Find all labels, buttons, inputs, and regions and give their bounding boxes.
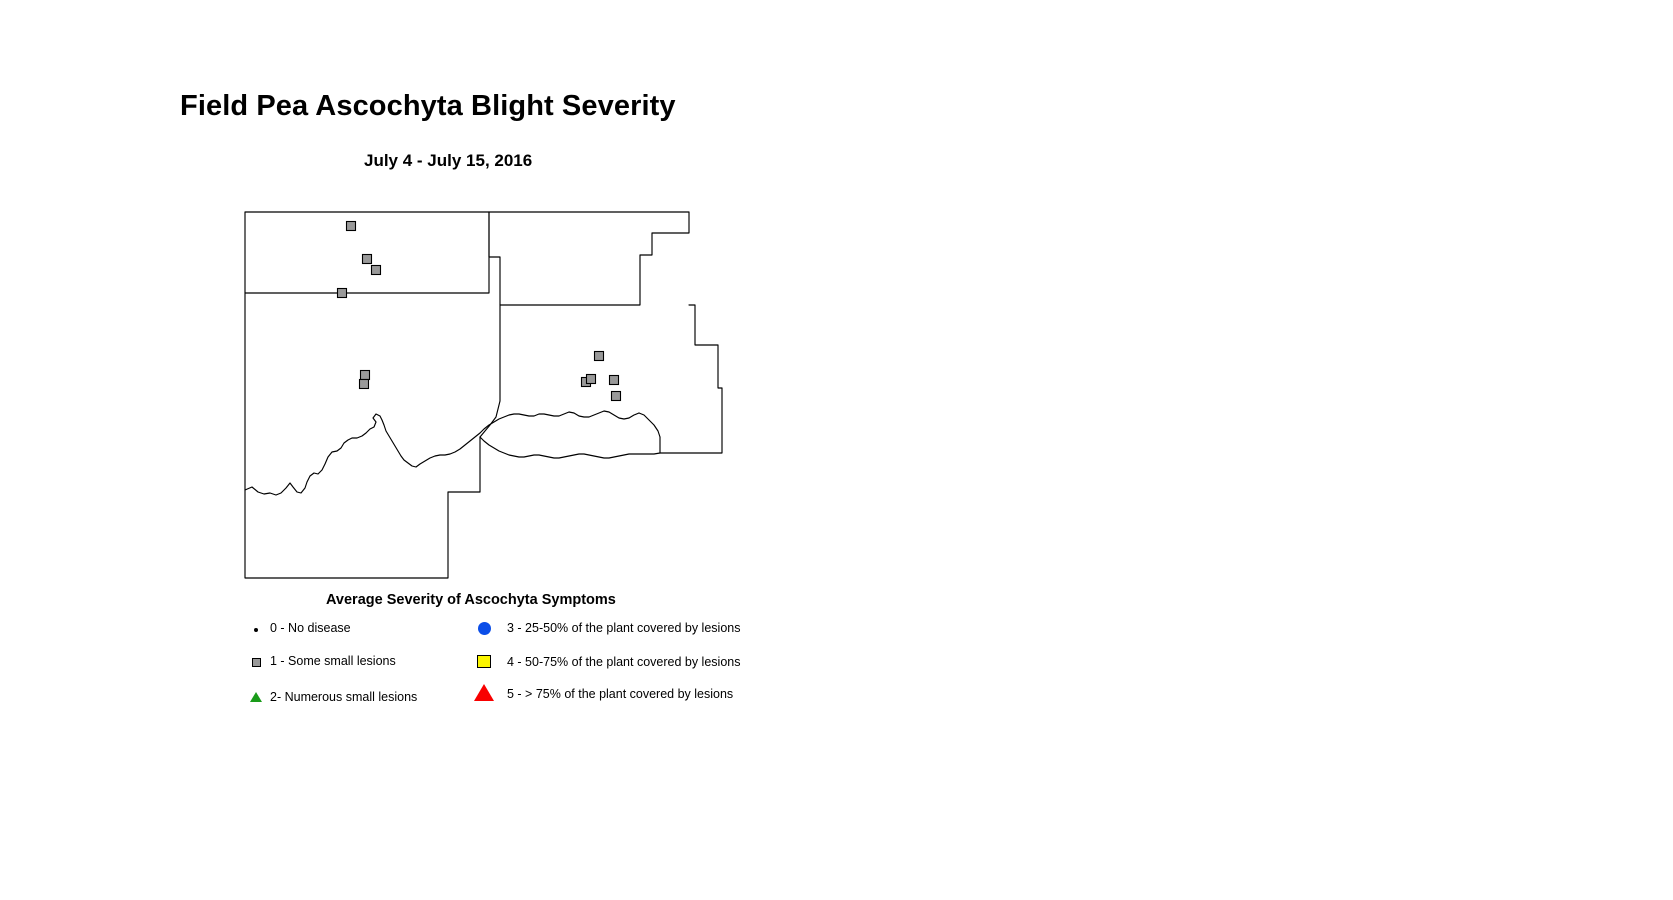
page-subtitle: July 4 - July 15, 2016 (364, 151, 532, 171)
legend-item-severity-0: 0 - No disease (245, 618, 460, 651)
legend-title: Average Severity of Ascochyta Symptoms (326, 592, 616, 608)
circle-blue-icon (472, 618, 496, 638)
page-title: Field Pea Ascochyta Blight Severity (180, 90, 676, 123)
legend-item-severity-4: 4 - 50-75% of the plant covered by lesio… (472, 651, 762, 683)
marker-site-10[interactable] (610, 376, 619, 385)
marker-site-9[interactable] (587, 375, 596, 384)
triangle-green-icon (245, 687, 267, 707)
square-yellow-icon (472, 651, 496, 671)
river-boundary-southeast (480, 437, 660, 458)
marker-site-5[interactable] (361, 371, 370, 380)
legend-item-label: 4 - 50-75% of the plant covered by lesio… (507, 652, 740, 672)
legend-column-left: 0 - No disease 1 - Some small lesions 2-… (245, 618, 460, 717)
boundary-nw-county (245, 212, 489, 293)
boundary-east-outer (660, 305, 722, 453)
map-markers (338, 222, 621, 401)
legend: 0 - No disease 1 - Some small lesions 2-… (240, 618, 760, 710)
marker-site-7[interactable] (595, 352, 604, 361)
boundary-ne-county (489, 212, 689, 305)
marker-site-11[interactable] (612, 392, 621, 401)
marker-site-6[interactable] (360, 380, 369, 389)
river-boundary-west (245, 411, 639, 495)
boundary-divider-lower (480, 401, 500, 437)
legend-column-right: 3 - 25-50% of the plant covered by lesio… (472, 618, 762, 716)
marker-site-1[interactable] (347, 222, 356, 231)
legend-item-severity-5: 5 - > 75% of the plant covered by lesion… (472, 683, 762, 716)
legend-item-severity-3: 3 - 25-50% of the plant covered by lesio… (472, 618, 762, 651)
marker-site-4[interactable] (338, 289, 347, 298)
marker-site-3[interactable] (372, 266, 381, 275)
marker-site-2[interactable] (363, 255, 372, 264)
legend-item-label: 0 - No disease (270, 618, 351, 638)
legend-item-label: 1 - Some small lesions (270, 651, 396, 671)
map-poster: Field Pea Ascochyta Blight Severity July… (0, 0, 1673, 900)
square-gray-icon (245, 652, 267, 672)
legend-item-label: 2- Numerous small lesions (270, 687, 417, 707)
legend-item-label: 3 - 25-50% of the plant covered by lesio… (507, 618, 740, 638)
legend-item-severity-2: 2- Numerous small lesions (245, 684, 460, 717)
dot-black-icon (245, 620, 267, 640)
legend-item-severity-1: 1 - Some small lesions (245, 651, 460, 684)
legend-item-label: 5 - > 75% of the plant covered by lesion… (507, 684, 733, 704)
river-boundary-east (639, 413, 660, 437)
map-canvas (240, 205, 740, 590)
triangle-red-icon (472, 682, 496, 702)
map-boundaries (245, 212, 722, 578)
